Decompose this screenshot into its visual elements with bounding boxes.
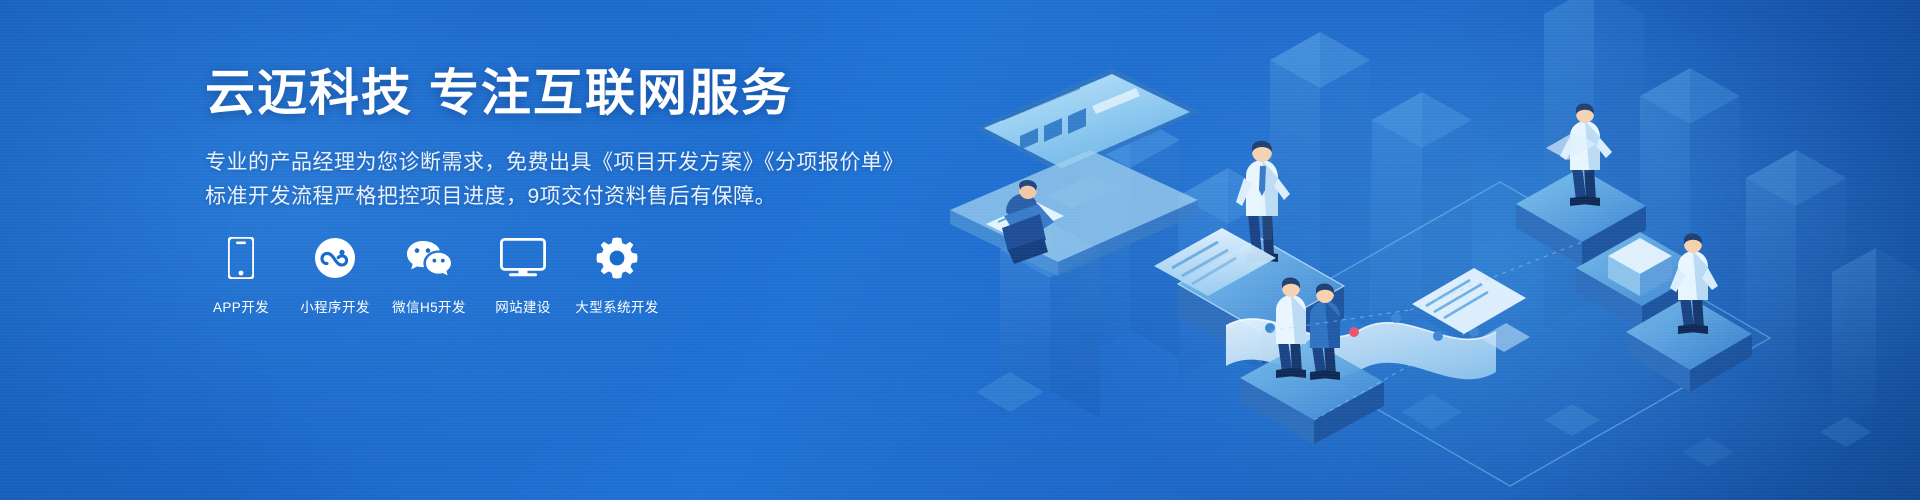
subtitle-line-2: 标准开发流程严格把控项目进度，9项交付资料售后有保障。	[205, 180, 965, 214]
service-list: APP开发 小程序开发	[205, 232, 675, 316]
service-item-miniprogram[interactable]: 小程序开发	[299, 232, 371, 316]
mini-program-icon	[314, 232, 356, 284]
isometric-illustration	[940, 0, 1920, 500]
service-label: 微信H5开发	[392, 296, 466, 316]
service-item-app[interactable]: APP开发	[205, 232, 277, 316]
page-title: 云迈科技 专注互联网服务	[205, 64, 965, 122]
service-item-wechat-h5[interactable]: 微信H5开发	[393, 232, 465, 316]
gear-icon	[596, 232, 638, 284]
subtitle-line-1: 专业的产品经理为您诊断需求，免费出具《项目开发方案》《分项报价单》	[205, 146, 965, 180]
service-item-website[interactable]: 网站建设	[487, 232, 559, 316]
banner-copy: 云迈科技 专注互联网服务 专业的产品经理为您诊断需求，免费出具《项目开发方案》《…	[205, 64, 965, 214]
service-item-large-system[interactable]: 大型系统开发	[581, 232, 653, 316]
monitor-icon	[500, 232, 546, 284]
service-label: 小程序开发	[300, 296, 370, 316]
service-label: 大型系统开发	[575, 296, 658, 316]
promo-banner: 云迈科技 专注互联网服务 专业的产品经理为您诊断需求，免费出具《项目开发方案》《…	[0, 0, 1920, 500]
wechat-icon	[405, 232, 453, 284]
mobile-phone-icon	[228, 232, 254, 284]
service-label: 网站建设	[495, 296, 551, 316]
banner-subtitle: 专业的产品经理为您诊断需求，免费出具《项目开发方案》《分项报价单》 标准开发流程…	[205, 146, 965, 214]
service-label: APP开发	[213, 296, 269, 316]
